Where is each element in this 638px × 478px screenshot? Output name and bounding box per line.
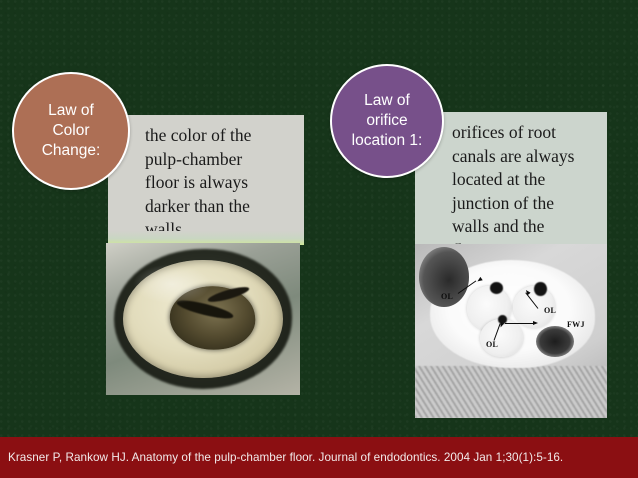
slide-canvas: the color of the pulp-chamber floor is a… <box>0 0 638 478</box>
citation-text: Krasner P, Rankow HJ. Anatomy of the pul… <box>0 451 563 464</box>
annotation-label-ol-3: OL <box>486 340 498 349</box>
annotation-label-ol-2: OL <box>544 306 556 315</box>
right-statement-panel: orifices of root canals are always locat… <box>415 112 607 244</box>
left-statement-text: the color of the pulp-chamber floor is a… <box>108 115 304 242</box>
left-photo-specular-highlight <box>133 264 211 304</box>
annotation-arrow-fwj <box>505 323 535 324</box>
law-of-orifice-location-bubble: Law of orifice location 1: <box>330 64 444 178</box>
annotation-label-ol-1: OL <box>441 292 453 301</box>
right-photo-canal-opening-2 <box>534 282 546 296</box>
citation-bar: Krasner P, Rankow HJ. Anatomy of the pul… <box>0 437 638 478</box>
right-statement-text: orifices of root canals are always locat… <box>415 112 607 262</box>
clinical-photo-pulp-chamber-floor <box>106 243 300 395</box>
left-statement-panel: the color of the pulp-chamber floor is a… <box>108 115 304 231</box>
right-photo-lower-texture <box>415 366 607 418</box>
pulp-chamber-floor-micrograph: OL OL OL FWJ <box>415 244 607 418</box>
law-of-color-change-bubble: Law of Color Change: <box>12 72 130 190</box>
annotation-label-fwj: FWJ <box>567 320 585 329</box>
annotation-arrowhead-fwj <box>533 321 538 325</box>
